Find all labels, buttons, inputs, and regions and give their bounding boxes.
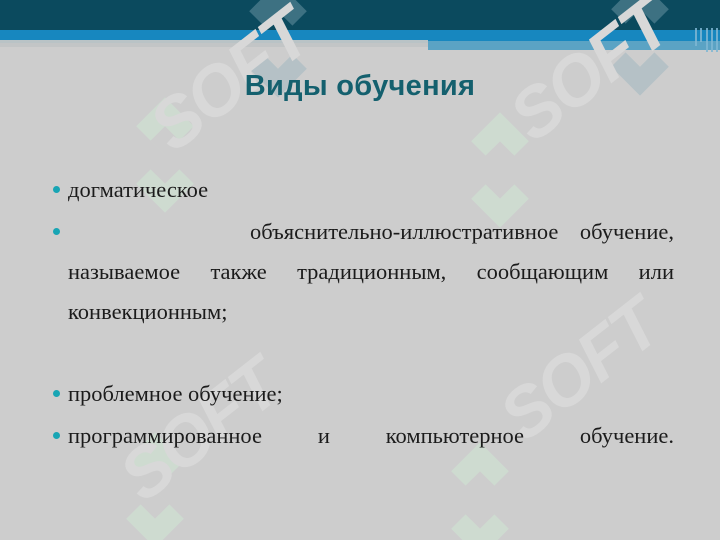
header-dark-band (0, 0, 720, 30)
header-right-mid-band (428, 41, 720, 50)
slide-title: Виды обучения (0, 70, 720, 103)
list-item-text: объяснительно-иллюстративное обучение, н… (68, 219, 674, 324)
list-item-label: догматическое (68, 170, 674, 210)
list-item-label: объяснительно-иллюстративное обучение, н… (68, 212, 674, 372)
list-item-label: программированное и компьютерное обучени… (68, 416, 674, 496)
list-item-label: проблемное обучение; (68, 374, 674, 414)
slide-canvas: SOFT SOFT SOFT SOFT Виды обучения догмат… (0, 0, 720, 540)
bullet-dot-icon (53, 186, 60, 193)
list-item: догматическое (50, 170, 674, 210)
bullet-dot-icon (53, 390, 60, 397)
bullet-list: догматическое объяснительно-иллюстративн… (50, 170, 674, 498)
list-item: объяснительно-иллюстративное обучение, н… (50, 212, 674, 372)
bullet-dot-icon (53, 432, 60, 439)
list-item: программированное и компьютерное обучени… (50, 416, 674, 496)
header-tick-marks (694, 28, 720, 52)
bullet-dot-icon (53, 228, 60, 235)
list-item: проблемное обучение; (50, 374, 674, 414)
header-right-bright-band (428, 30, 720, 41)
